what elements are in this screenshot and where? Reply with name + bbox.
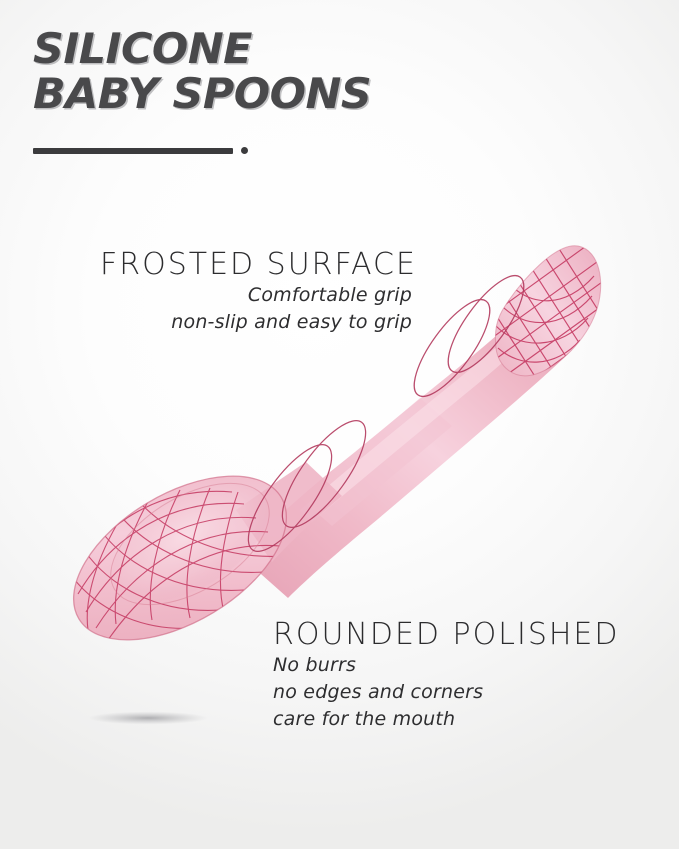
feature-heading: FROSTED SURFACE [100, 248, 412, 282]
feature-line: non-slip and easy to grip [100, 309, 412, 336]
feature-line: care for the mouth [273, 706, 643, 733]
feature-frosted-surface: FROSTED SURFACE Comfortable grip non-sli… [100, 248, 412, 336]
feature-line: Comfortable grip [100, 282, 412, 309]
title-line-2: BABY SPOONS [33, 71, 512, 116]
divider-dot-icon [241, 147, 248, 154]
feature-heading: ROUNDED POLISHED [273, 618, 643, 652]
divider-bar [33, 148, 233, 154]
product-poster: SILICONE BABY SPOONS [0, 0, 679, 849]
feature-line: No burrs [273, 652, 643, 679]
title-divider [33, 147, 248, 154]
title-line-1: SILICONE [33, 26, 512, 71]
page-title: SILICONE BABY SPOONS [33, 26, 503, 116]
feature-rounded-polished: ROUNDED POLISHED No burrs no edges and c… [273, 618, 643, 733]
product-shadow [88, 712, 208, 725]
feature-line: no edges and corners [273, 679, 643, 706]
